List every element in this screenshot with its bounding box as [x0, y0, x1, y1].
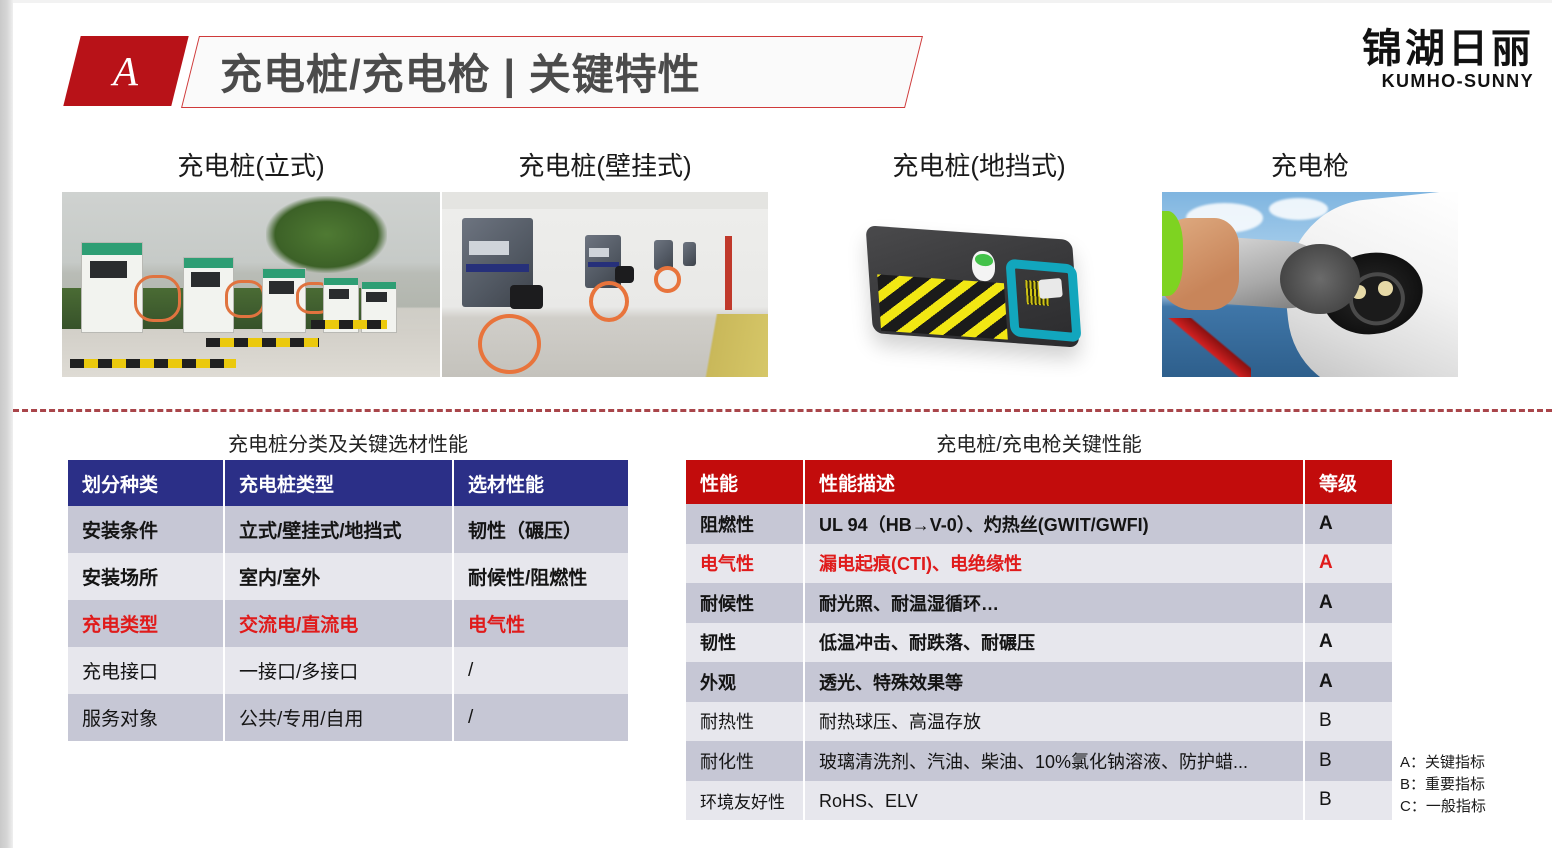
window-top-edge — [13, 0, 1552, 3]
column-header-material: 选材性能 — [453, 460, 628, 506]
cell-grade: A — [1304, 662, 1392, 702]
column-header-category: 划分种类 — [68, 460, 224, 506]
table-row: 安装条件 立式/壁挂式/地挡式 韧性（碾压） — [68, 506, 628, 553]
cell-description: UL 94（HB→V-0）、灼热丝(GWIT/GWFI) — [804, 504, 1304, 544]
logo-chinese-name: 锦湖日丽 — [1362, 28, 1534, 70]
table-row: 耐化性 玻璃清洗剂、汽油、柴油、10%氯化钠溶液、防护蜡... B — [686, 741, 1392, 781]
cell-pile-type: 立式/壁挂式/地挡式 — [224, 506, 453, 553]
header-banner: A 充电桩/充电枪 | 关键特性 — [72, 36, 912, 106]
table-header-row: 划分种类 充电桩类型 选材性能 — [68, 460, 628, 506]
section-divider — [13, 409, 1552, 412]
upright-charging-pile-photo — [62, 192, 440, 377]
cell-material: / — [453, 694, 628, 741]
cell-performance: 韧性 — [686, 623, 804, 663]
cell-description: 低温冲击、耐跌落、耐碾压 — [804, 623, 1304, 663]
table-row: 阻燃性 UL 94（HB→V-0）、灼热丝(GWIT/GWFI) A — [686, 504, 1392, 544]
slide-canvas: A 充电桩/充电枪 | 关键特性 锦湖日丽 KUMHO-SUNNY 充电桩(立式… — [0, 0, 1552, 848]
column-header-performance: 性能 — [686, 460, 804, 504]
cell-grade: B — [1304, 781, 1392, 821]
cell-description: RoHS、ELV — [804, 781, 1304, 821]
table-row: 充电接口 一接口/多接口 / — [68, 647, 628, 694]
column-header-grade: 等级 — [1304, 460, 1392, 504]
cell-material: / — [453, 647, 628, 694]
cell-pile-type: 室内/室外 — [224, 553, 453, 600]
cell-performance: 耐化性 — [686, 741, 804, 781]
cell-material: 电气性 — [453, 600, 628, 647]
photo-caption-3: 充电枪 — [1162, 146, 1458, 183]
cell-material: 韧性（碾压） — [453, 506, 628, 553]
cell-category: 充电类型 — [68, 600, 224, 647]
cell-description: 耐热球压、高温存放 — [804, 702, 1304, 742]
charging-pile-classification-table: 划分种类 充电桩类型 选材性能 安装条件 立式/壁挂式/地挡式 韧性（碾压） 安… — [68, 460, 628, 741]
cell-description: 耐光照、耐温湿循环… — [804, 583, 1304, 623]
table-header-row: 性能 性能描述 等级 — [686, 460, 1392, 504]
ground-block-charging-pile-photo — [812, 192, 1146, 377]
table-row: 耐候性 耐光照、耐温湿循环… A — [686, 583, 1392, 623]
table-row: 韧性 低温冲击、耐跌落、耐碾压 A — [686, 623, 1392, 663]
photo-caption-1: 充电桩(壁挂式) — [442, 146, 768, 183]
cell-category: 安装场所 — [68, 553, 224, 600]
column-header-pile-type: 充电桩类型 — [224, 460, 453, 506]
cell-description: 漏电起痕(CTI)、电绝缘性 — [804, 544, 1304, 584]
cell-category: 充电接口 — [68, 647, 224, 694]
legend-line-c: C：一般指标 — [1400, 796, 1486, 818]
cell-performance: 环境友好性 — [686, 781, 804, 821]
photo-caption-0: 充电桩(立式) — [62, 146, 440, 183]
cell-grade: A — [1304, 544, 1392, 584]
table-row: 环境友好性 RoHS、ELV B — [686, 781, 1392, 821]
cell-description: 透光、特殊效果等 — [804, 662, 1304, 702]
cell-category: 服务对象 — [68, 694, 224, 741]
table-row: 耐热性 耐热球压、高温存放 B — [686, 702, 1392, 742]
cell-pile-type: 公共/专用/自用 — [224, 694, 453, 741]
table-row: 安装场所 室内/室外 耐候性/阻燃性 — [68, 553, 628, 600]
cell-performance: 阻燃性 — [686, 504, 804, 544]
window-left-gutter — [0, 0, 13, 848]
charging-gun-photo — [1162, 192, 1458, 377]
table-row: 服务对象 公共/专用/自用 / — [68, 694, 628, 741]
photo-caption-2: 充电桩(地挡式) — [812, 146, 1146, 183]
right-table-title: 充电桩/充电枪关键性能 — [686, 428, 1392, 457]
wall-mounted-charging-pile-photo — [442, 192, 768, 377]
page-title: 充电桩/充电枪 | 关键特性 — [220, 36, 910, 106]
cell-performance: 耐热性 — [686, 702, 804, 742]
cell-grade: B — [1304, 741, 1392, 781]
cell-description: 玻璃清洗剂、汽油、柴油、10%氯化钠溶液、防护蜡... — [804, 741, 1304, 781]
legend-line-b: B：重要指标 — [1400, 774, 1486, 796]
cell-grade: A — [1304, 504, 1392, 544]
section-badge-letter: A — [113, 51, 138, 92]
left-table-title: 充电桩分类及关键选材性能 — [68, 428, 628, 457]
table-row: 外观 透光、特殊效果等 A — [686, 662, 1392, 702]
cell-pile-type: 一接口/多接口 — [224, 647, 453, 694]
cell-category: 安装条件 — [68, 506, 224, 553]
key-performance-table: 性能 性能描述 等级 阻燃性 UL 94（HB→V-0）、灼热丝(GWIT/GW… — [686, 460, 1392, 820]
legend-line-a: A：关键指标 — [1400, 752, 1486, 774]
logo-english-name: KUMHO-SUNNY — [1362, 71, 1534, 92]
table-row-highlighted: 充电类型 交流电/直流电 电气性 — [68, 600, 628, 647]
section-badge: A — [63, 36, 188, 106]
cell-grade: A — [1304, 583, 1392, 623]
cell-grade: A — [1304, 623, 1392, 663]
cell-material: 耐候性/阻燃性 — [453, 553, 628, 600]
cell-performance: 耐候性 — [686, 583, 804, 623]
cell-pile-type: 交流电/直流电 — [224, 600, 453, 647]
company-logo: 锦湖日丽 KUMHO-SUNNY — [1362, 28, 1534, 92]
cell-performance: 外观 — [686, 662, 804, 702]
grade-legend: A：关键指标 B：重要指标 C：一般指标 — [1400, 752, 1486, 817]
cell-performance: 电气性 — [686, 544, 804, 584]
table-row-highlighted: 电气性 漏电起痕(CTI)、电绝缘性 A — [686, 544, 1392, 584]
cell-grade: B — [1304, 702, 1392, 742]
column-header-description: 性能描述 — [804, 460, 1304, 504]
